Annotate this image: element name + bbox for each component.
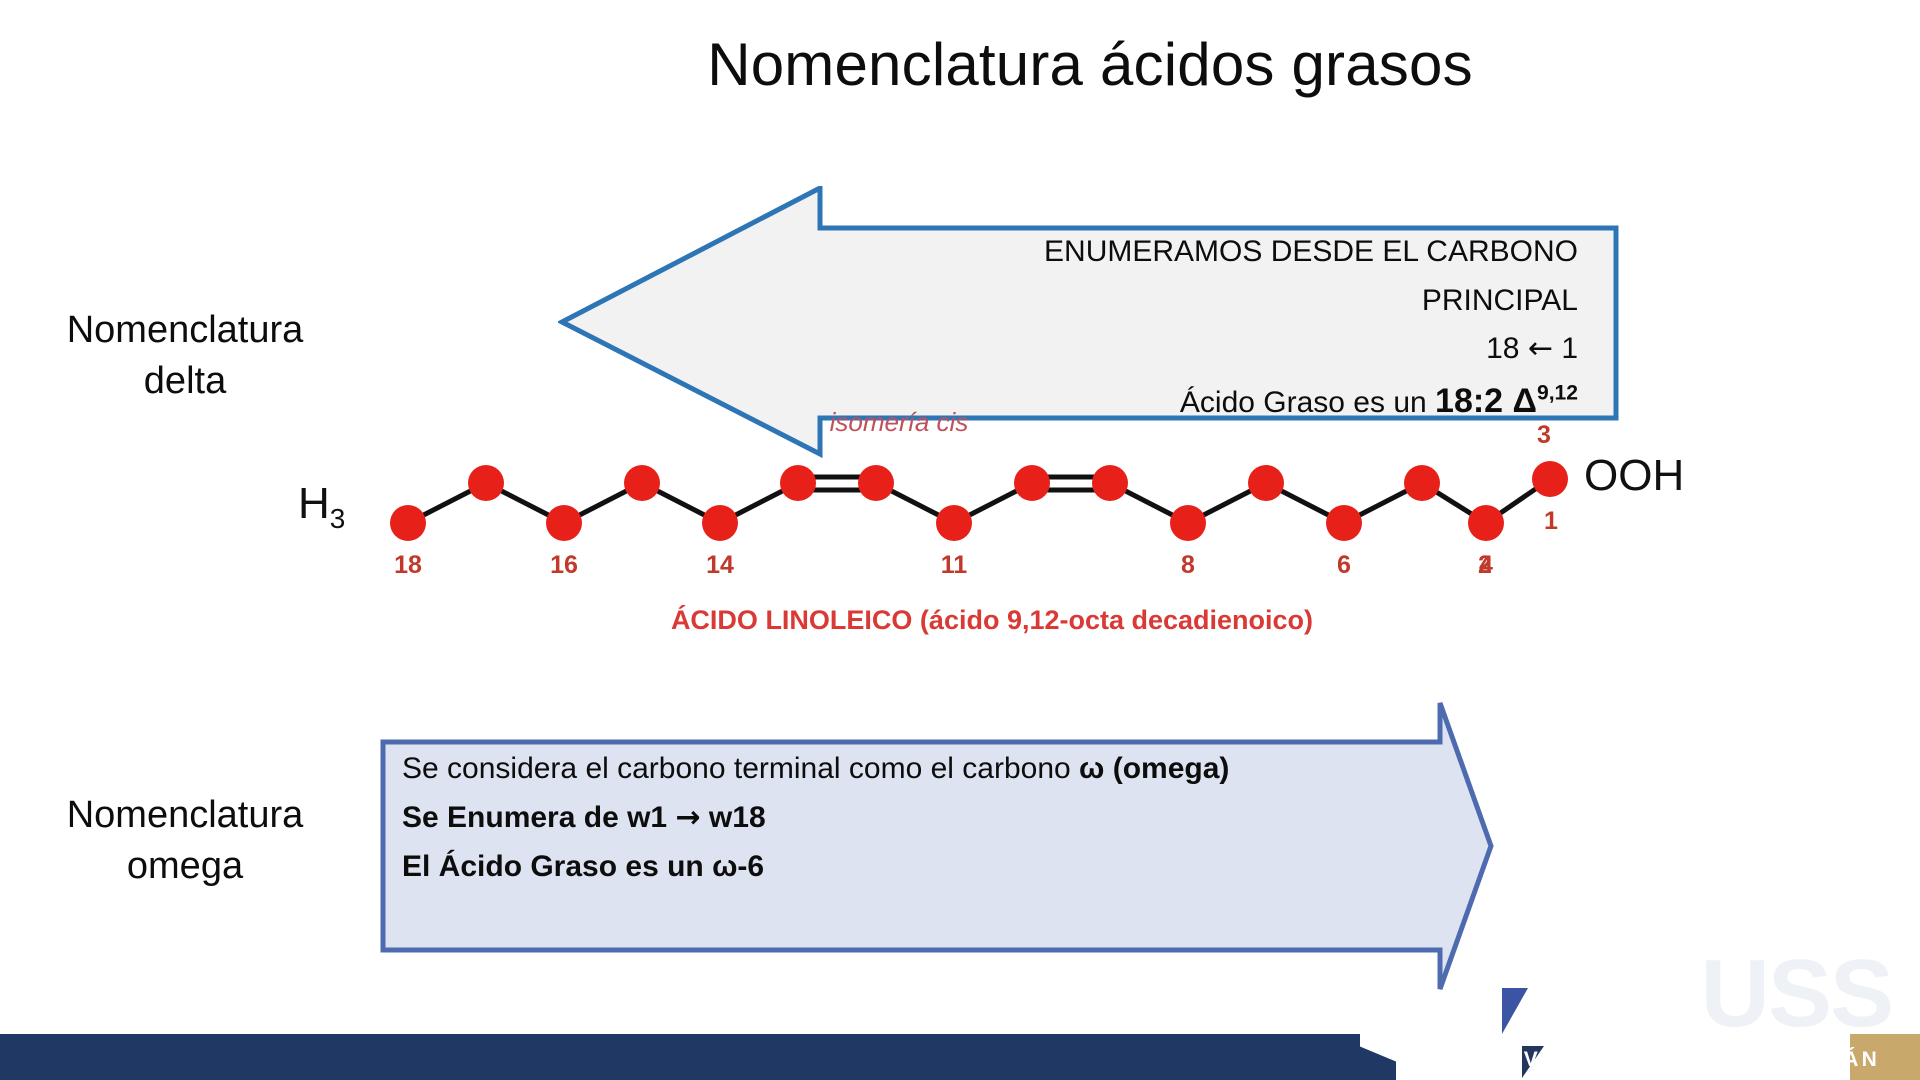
omega-line-1-plain: Se considera el carbono terminal como el… xyxy=(402,752,1079,785)
svg-text:18: 18 xyxy=(394,551,422,579)
section-label-omega-line1: Nomenclatura xyxy=(30,790,340,841)
omega-arrow-callout: Se considera el carbono terminal como el… xyxy=(380,700,1495,992)
svg-text:6: 6 xyxy=(1337,551,1351,579)
delta-carbon-18: 18 xyxy=(1486,332,1519,365)
delta-notation: 18:2 Δ9,12 xyxy=(1435,382,1578,420)
carbon-number-1: 1 xyxy=(1544,507,1558,536)
slide-footer: UNIVERSIDAD SAN SEBASTIÁN xyxy=(0,1034,1920,1080)
left-arrow-icon: ← xyxy=(1528,331,1553,366)
omega-symbol-label: ω (omega) xyxy=(1079,752,1229,785)
page-title: Nomenclatura ácidos grasos xyxy=(560,30,1620,99)
footer-bar xyxy=(0,1034,1360,1080)
carboxyl-terminal-label: OOH xyxy=(1584,451,1684,501)
methyl-h: H xyxy=(298,479,330,528)
linoleic-acid-skeleton: 17 15 13 12 10 9 7 5 18 16 14 11 8 6 4 xyxy=(368,455,1616,695)
svg-text:8: 8 xyxy=(1181,551,1195,579)
slide-canvas: Nomenclatura ácidos grasos Nomenclatura … xyxy=(0,0,1920,1080)
methyl-terminal-label: H3 xyxy=(298,479,345,535)
delta-arrow-callout: ENUMERAMOS DESDE EL CARBONO PRINCIPAL 18… xyxy=(558,186,1620,458)
methyl-subscript: 3 xyxy=(330,503,346,534)
right-arrow-icon: → xyxy=(675,800,700,835)
section-label-delta: Nomenclatura delta xyxy=(30,305,340,408)
svg-text:14: 14 xyxy=(706,551,734,579)
delta-line-2: 18 ← 1 xyxy=(888,325,1578,374)
section-label-delta-line2: delta xyxy=(30,356,340,407)
university-wordmark: UNIVERSIDAD SAN SEBASTIÁN xyxy=(1478,1048,1880,1072)
omega-line-1: Se considera el carbono terminal como el… xyxy=(402,745,1412,794)
delta-arrow-text: ENUMERAMOS DESDE EL CARBONO PRINCIPAL 18… xyxy=(888,228,1578,429)
molecule-caption: ÁCIDO LINOLEICO (ácido 9,12-octa decadie… xyxy=(368,605,1616,636)
omega-line-2-start: Se Enumera de w1 xyxy=(402,801,675,834)
uss-logo-triangle-light xyxy=(1502,988,1528,1034)
delta-notation-superscript: 9,12 xyxy=(1537,381,1578,404)
delta-notation-base: 18:2 Δ xyxy=(1435,382,1537,420)
section-label-omega-line2: omega xyxy=(30,841,340,892)
svg-text:11: 11 xyxy=(941,551,968,579)
delta-line-3-prefix: Ácido Graso es un xyxy=(1180,386,1435,419)
section-label-delta-line1: Nomenclatura xyxy=(30,305,340,356)
uss-watermark: USS xyxy=(1701,946,1892,1042)
carbon-number-labels-bottom: 18 16 14 11 8 6 4 xyxy=(394,551,1493,579)
fatty-acid-structure-diagram: 17 15 13 12 10 9 7 5 18 16 14 11 8 6 4 xyxy=(368,455,1616,695)
omega-line-3: El Ácido Graso es un ω-6 xyxy=(402,843,1412,892)
omega-classification: El Ácido Graso es un ω-6 xyxy=(402,850,764,883)
omega-line-2-end: w18 xyxy=(701,801,766,834)
delta-carbon-1: 1 xyxy=(1561,332,1578,365)
delta-line-1: ENUMERAMOS DESDE EL CARBONO PRINCIPAL xyxy=(888,228,1578,325)
svg-text:16: 16 xyxy=(550,551,578,579)
omega-arrow-text: Se considera el carbono terminal como el… xyxy=(402,745,1412,892)
carbon-number-3: 3 xyxy=(1537,421,1551,450)
omega-line-2: Se Enumera de w1 → w18 xyxy=(402,794,1412,843)
carbon-number-2: 2 xyxy=(1478,551,1492,580)
cis-isomerism-label: isomería cis xyxy=(749,407,1049,438)
section-label-omega: Nomenclatura omega xyxy=(30,790,340,893)
